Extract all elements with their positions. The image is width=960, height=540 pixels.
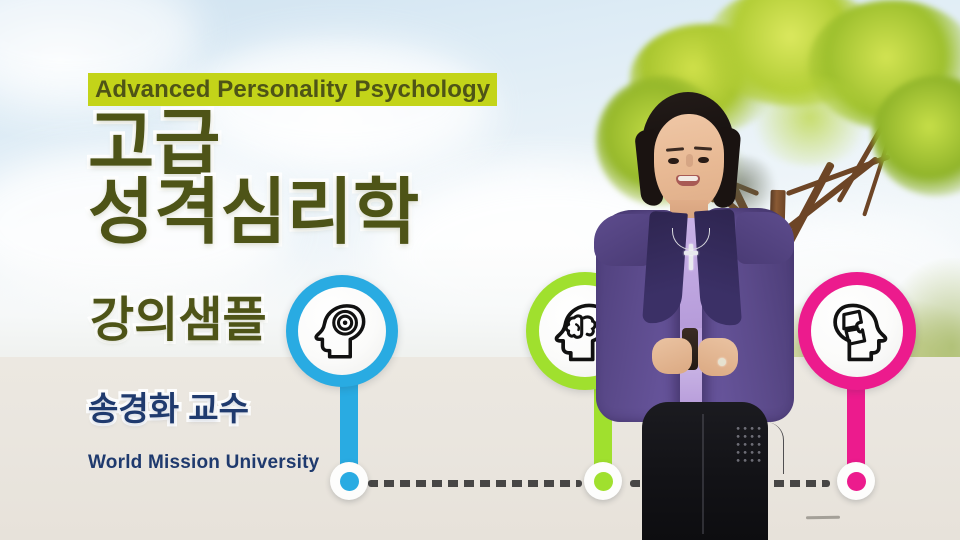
nose	[686, 154, 693, 167]
cross-necklace-icon	[684, 244, 698, 270]
node-marker-dot	[847, 472, 866, 491]
head-with-puzzle-icon	[822, 296, 892, 366]
eye	[698, 157, 709, 163]
node-marker-dot	[340, 472, 359, 491]
timeline-dash-left	[368, 480, 582, 487]
trouser-sparkle	[736, 426, 762, 466]
node-ring	[286, 275, 398, 387]
eyebrow	[694, 146, 712, 150]
eyebrow	[666, 147, 684, 152]
mic-wire	[766, 422, 784, 474]
presenter-shoulder-right	[736, 212, 794, 264]
course-subtitle-en: Advanced Personality Psychology	[95, 78, 490, 102]
teeth	[678, 176, 698, 181]
node-marker	[330, 462, 368, 500]
page-title: 고급 성격심리학	[88, 110, 608, 248]
node-icon-plate	[298, 287, 386, 375]
presenter-trousers	[642, 402, 768, 540]
eye	[668, 158, 679, 164]
course-kind-label: 강의샘플	[90, 297, 267, 345]
trouser-seam	[702, 414, 704, 534]
presenter-hand-right	[698, 338, 738, 376]
institution-name: World Mission University	[88, 452, 319, 474]
presenter-photo	[590, 92, 830, 540]
node-marker	[837, 462, 875, 500]
mouth	[676, 175, 700, 186]
course-subtitle-banner: Advanced Personality Psychology	[88, 73, 497, 106]
presenter-name: 송경화 교수	[88, 392, 249, 425]
finger-ring	[718, 358, 726, 366]
presenter-hand-left	[652, 338, 692, 374]
head-with-target-icon	[309, 298, 375, 364]
lecture-title-slide: Advanced Personality Psychology 고급 성격심리학…	[0, 0, 960, 540]
